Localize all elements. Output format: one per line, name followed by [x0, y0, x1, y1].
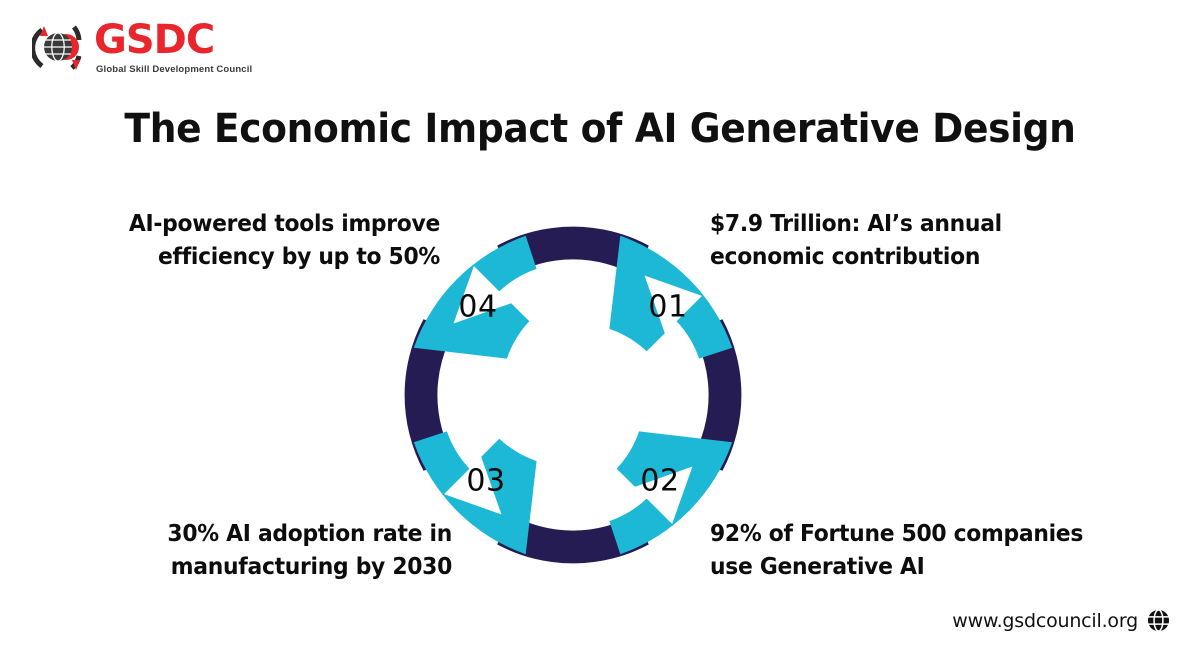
globe-icon [1147, 609, 1170, 632]
callout-04-line1: AI-powered tools improve [79, 208, 440, 241]
website-url[interactable]: www.gsdcouncil.org [952, 610, 1138, 632]
cycle-donut-chart: 01 02 03 04 [396, 218, 750, 572]
segment-04-number: 04 [458, 290, 497, 325]
callout-step-01: $7.9 Trillion: AI’s annual economic cont… [710, 208, 1090, 274]
segment-02[interactable]: 02 [609, 431, 732, 554]
callout-step-02: 92% of Fortune 500 companies use Generat… [710, 518, 1109, 584]
logo-tagline: Global Skill Development Council [96, 64, 252, 75]
segment-03-number: 03 [466, 464, 505, 499]
segment-02-number: 02 [640, 464, 679, 499]
globe-logo-icon [32, 20, 92, 76]
page-title: The Economic Impact of AI Generative Des… [36, 106, 1164, 152]
segment-01-number: 01 [648, 290, 687, 325]
callout-step-04: AI-powered tools improve efficiency by u… [79, 208, 440, 274]
callout-04-line2: efficiency by up to 50% [79, 241, 440, 274]
segment-04[interactable]: 04 [414, 236, 537, 359]
callout-02-line2: use Generative AI [710, 551, 1109, 584]
segment-01[interactable]: 01 [609, 236, 732, 359]
footer: www.gsdcouncil.org [952, 609, 1170, 632]
callout-01-line2: economic contribution [710, 241, 1090, 274]
segment-03[interactable]: 03 [414, 431, 537, 554]
gsdc-logo: GSDC Global Skill Development Council [32, 18, 272, 80]
logo-wordmark: GSDC [94, 18, 214, 62]
connector-arc-group [405, 227, 742, 564]
infographic-canvas: GSDC Global Skill Development Council Th… [0, 0, 1200, 650]
callout-01-line1: $7.9 Trillion: AI’s annual [710, 208, 1090, 241]
callout-02-line1: 92% of Fortune 500 companies [710, 518, 1109, 551]
